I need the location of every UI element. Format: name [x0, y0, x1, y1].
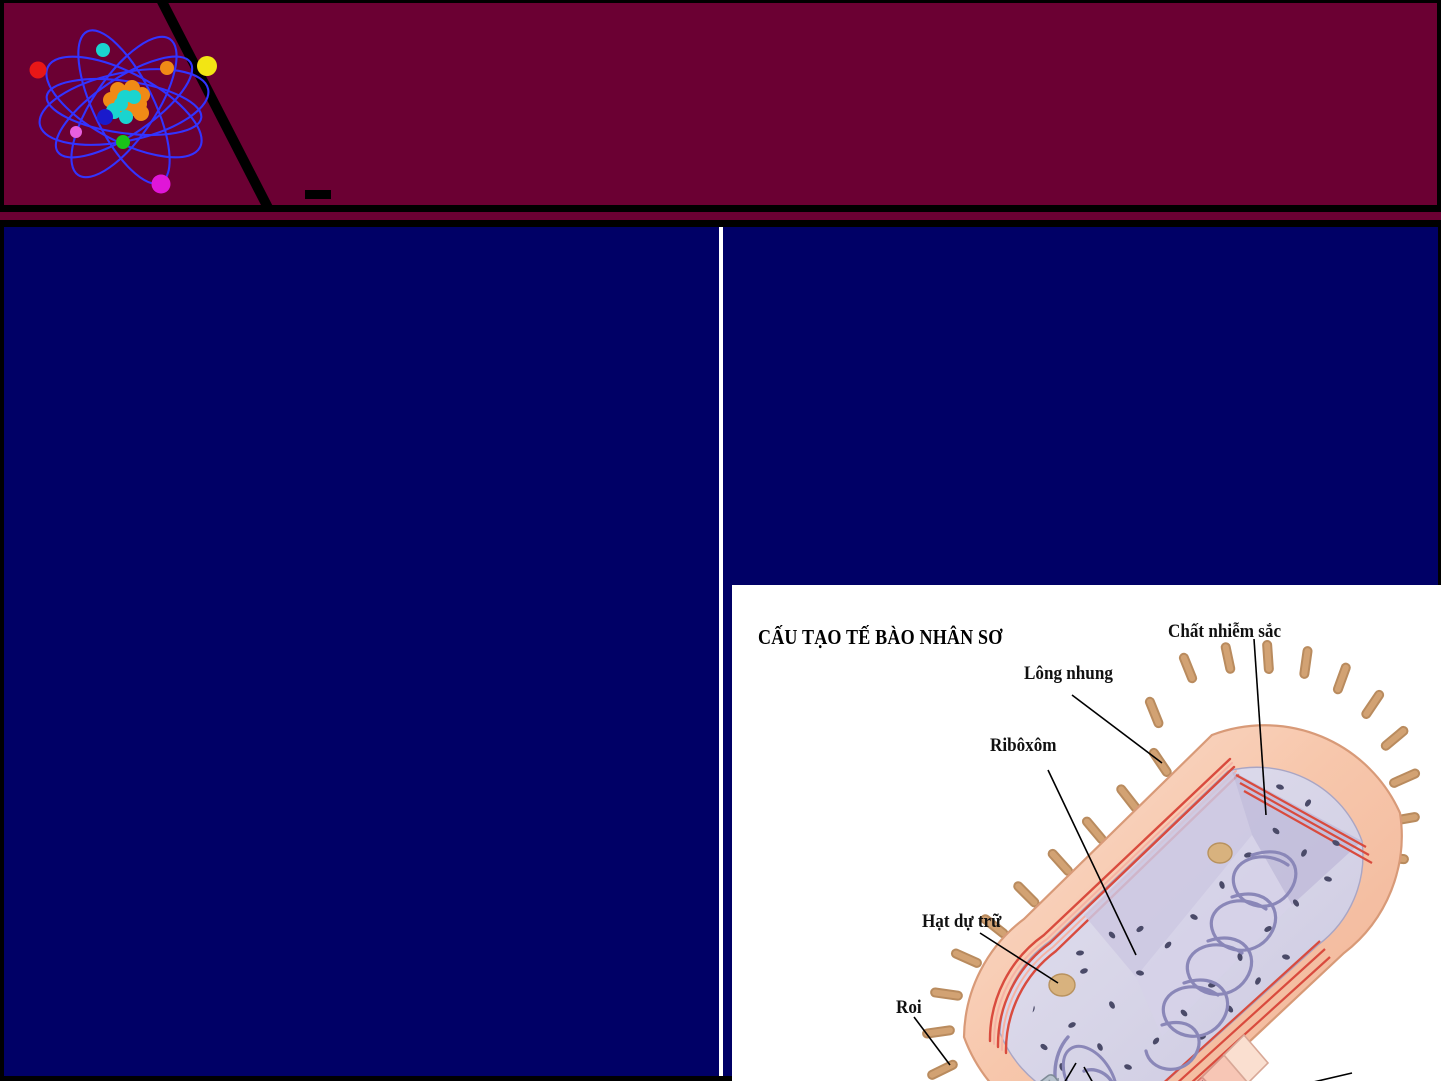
electron-orange-icon	[160, 61, 174, 75]
header-right-border	[1437, 0, 1441, 205]
label-long-nhung: Lông nhung	[1024, 663, 1113, 685]
electron-yellow-icon	[197, 56, 217, 76]
divider-stripe-black-bottom	[0, 220, 1441, 227]
label-roi: Roi	[896, 997, 922, 1019]
slide-body: CẤU TẠO TẾ BÀO NHÂN SƠ	[0, 227, 1441, 1081]
header-top-border	[0, 0, 1441, 3]
header-banner	[0, 0, 1441, 205]
electron-magenta-icon	[152, 175, 171, 194]
left-content-pane	[4, 227, 718, 1076]
electron-cyan-icon	[96, 43, 110, 57]
diagram-picture-panel: CẤU TẠO TẾ BÀO NHÂN SƠ	[732, 585, 1441, 1081]
slide-canvas: CẤU TẠO TẾ BÀO NHÂN SƠ	[0, 0, 1441, 1081]
atom-logo	[22, 12, 227, 202]
label-riboxom: Ribôxôm	[990, 735, 1057, 757]
divider-stripe-black-top	[0, 205, 1441, 212]
electron-red-icon	[30, 62, 47, 79]
header-left-border	[0, 0, 4, 205]
divider-stripe-maroon	[0, 212, 1441, 220]
header-diagonal-foot	[305, 190, 331, 199]
electron-pink-icon	[70, 126, 82, 138]
electron-blue-icon	[97, 109, 113, 125]
label-hat-du-tru: Hạt dự trữ	[922, 911, 1001, 933]
storage-granule-left	[1049, 974, 1075, 996]
electron-green-icon	[116, 135, 130, 149]
storage-granule-right	[1208, 843, 1232, 863]
prokaryotic-cell-illustration	[732, 585, 1441, 1081]
label-chat-nhiem-sac: Chất nhiễm sắc	[1168, 621, 1281, 643]
